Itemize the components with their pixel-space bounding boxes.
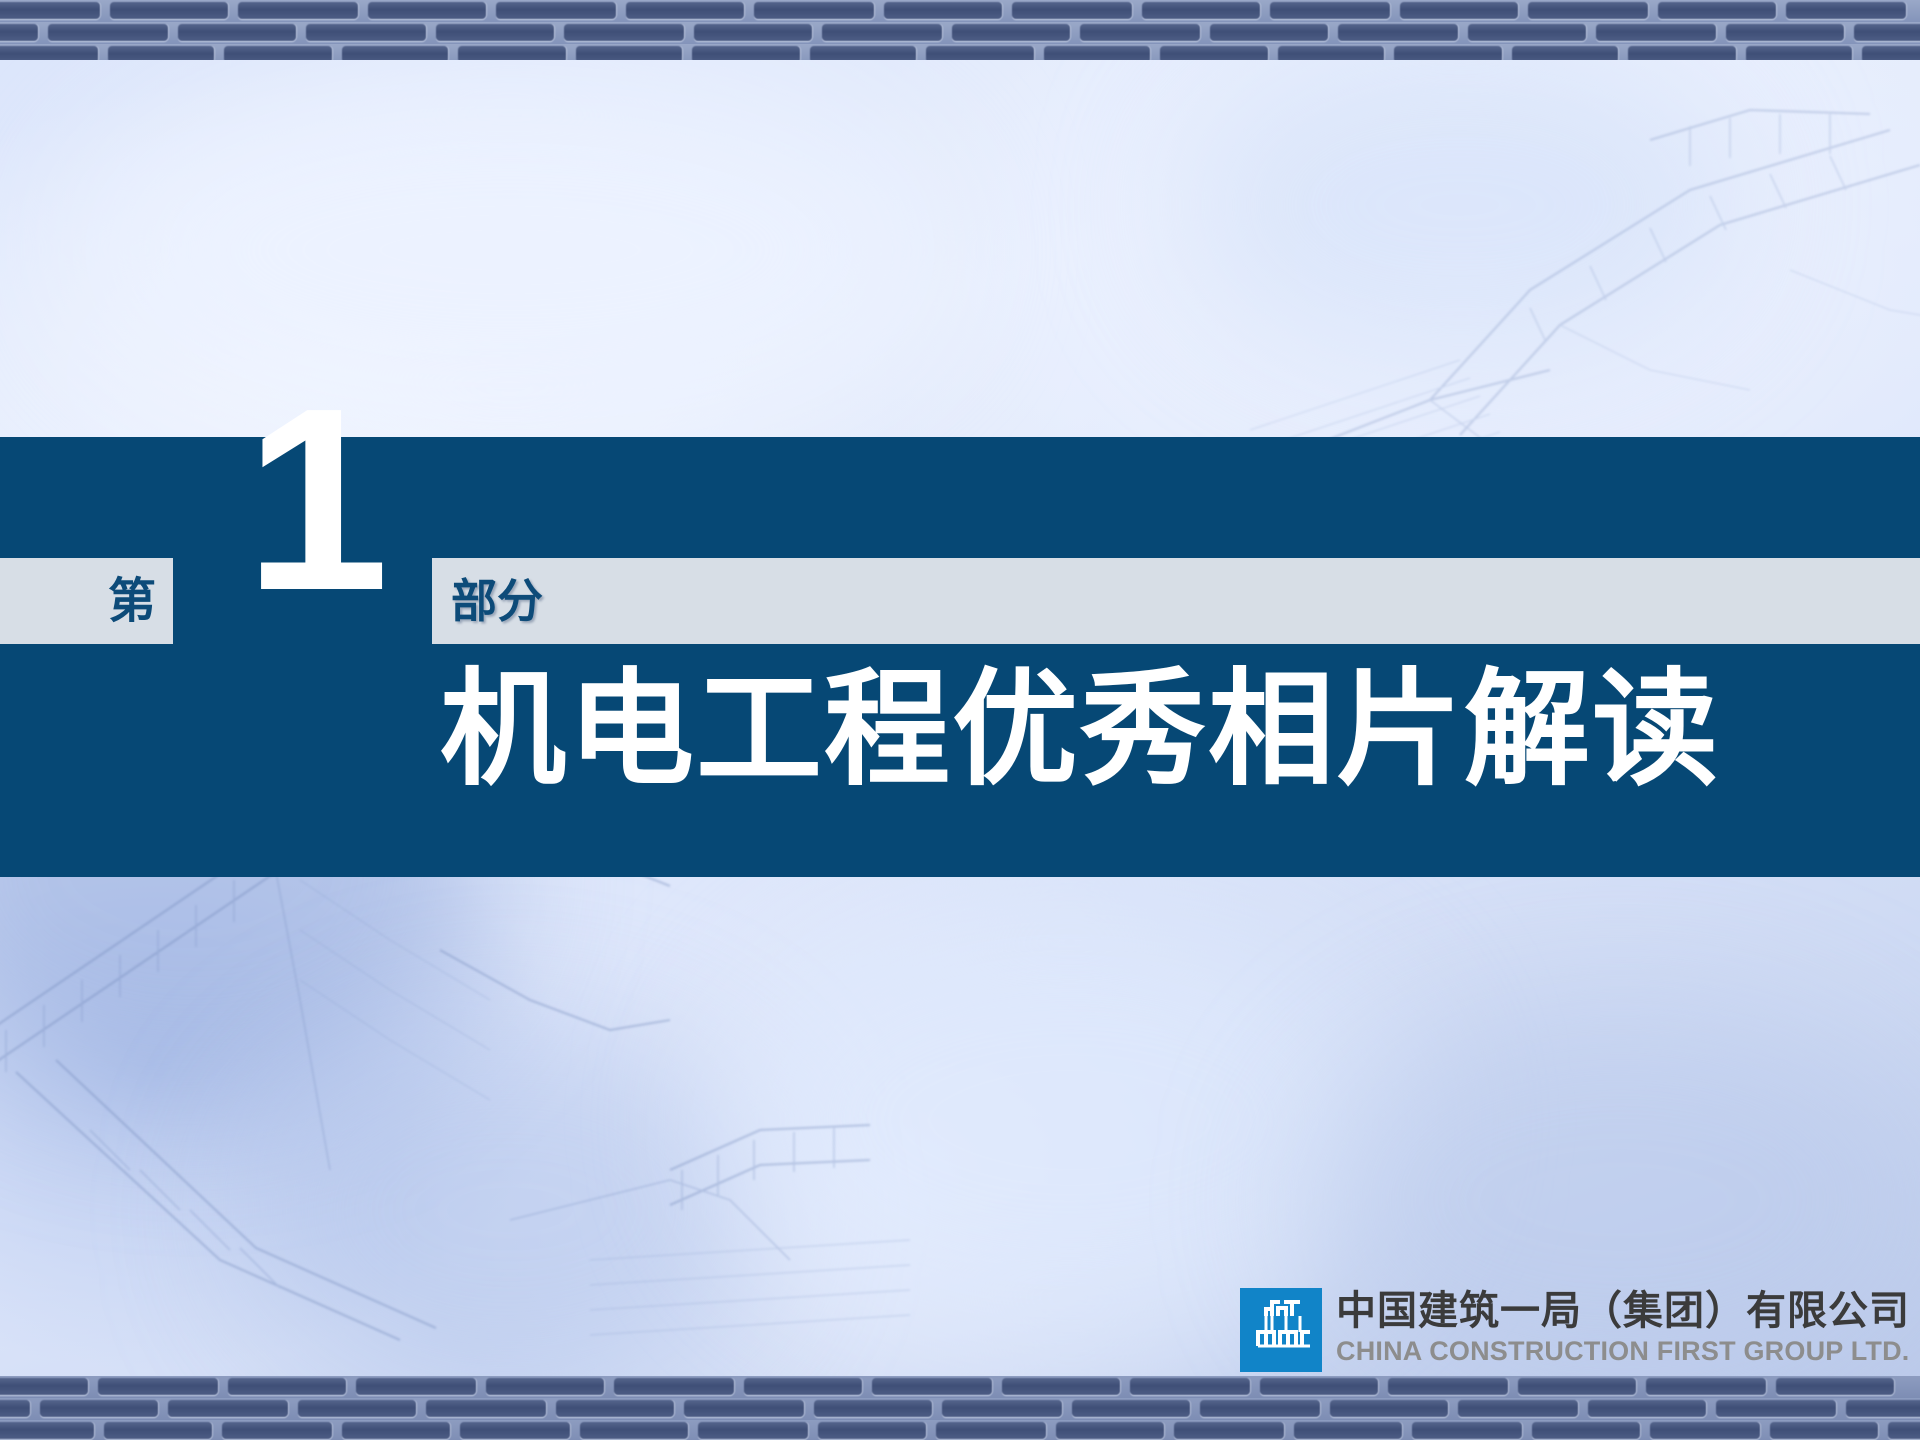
section-suffix-label: 部分 [432,578,543,624]
brick-border-top [0,0,1920,60]
brick-border-bottom [0,1376,1920,1440]
brick-row [0,1398,1920,1420]
brick-row [0,44,1920,60]
section-suffix-bar: 部分 [432,558,1920,644]
cscec-logo-icon [1240,1288,1322,1372]
section-prefix-chip: 第 [0,558,173,644]
company-name-en: CHINA CONSTRUCTION FIRST GROUP LTD. [1336,1334,1910,1368]
page-title: 机电工程优秀相片解读 [440,655,1920,805]
brick-row [0,1420,1920,1440]
company-logo-lockup: 中国建筑一局（集团）有限公司 CHINA CONSTRUCTION FIRST … [1240,1288,1910,1372]
brick-row [0,0,1920,22]
section-number: 1 [222,380,412,620]
brick-row [0,22,1920,44]
company-name-cn: 中国建筑一局（集团）有限公司 [1336,1288,1910,1334]
company-name-block: 中国建筑一局（集团）有限公司 CHINA CONSTRUCTION FIRST … [1336,1288,1910,1368]
section-prefix-label: 第 [108,577,173,625]
brick-row [0,1376,1920,1398]
presentation-slide: 第 1 部分 机电工程优秀相片解读 [0,0,1920,1440]
